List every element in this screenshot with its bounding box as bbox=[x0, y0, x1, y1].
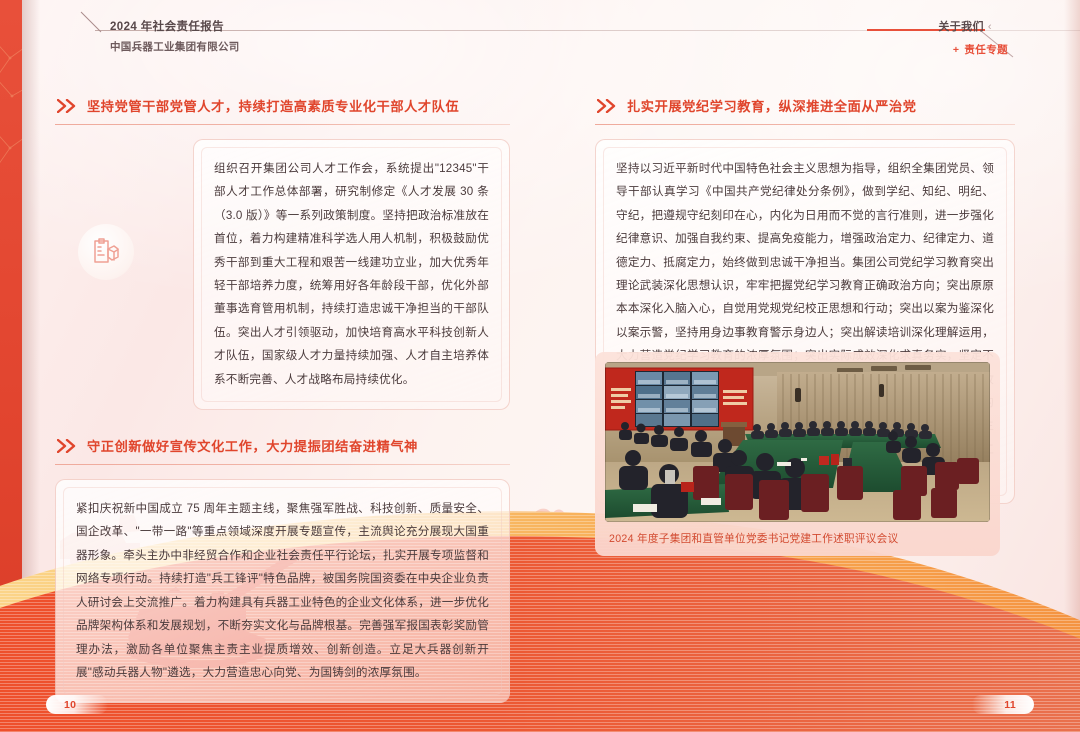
section-body-card: 紧扣庆祝新中国成立 75 周年主题主线，聚焦强军胜战、科技创新、质量安全、国企改… bbox=[55, 479, 510, 703]
nav-about-us-label: 关于我们 bbox=[938, 21, 984, 33]
spine-pattern bbox=[0, 0, 22, 732]
figure-caption: 2024 年度子集团和直管单位党委书记党建工作述职评议会议 bbox=[605, 522, 990, 556]
page-header: 2024 年社会责任报告 中国兵器工业集团有限公司 关于我们‹ +责任专题 bbox=[0, 0, 1080, 62]
report-page: 2024 年社会责任报告 中国兵器工业集团有限公司 关于我们‹ +责任专题 坚持… bbox=[0, 0, 1080, 732]
plus-icon: + bbox=[953, 44, 960, 56]
company-name: 中国兵器工业集团有限公司 bbox=[110, 39, 240, 54]
nav-responsibility-topic[interactable]: +责任专题 bbox=[953, 42, 1008, 57]
double-chevron-icon bbox=[57, 99, 78, 113]
double-chevron-icon bbox=[57, 439, 78, 453]
page-number-left: 10 bbox=[46, 695, 108, 714]
section-header: 坚持党管干部党管人才，持续打造高素质专业化干部人才队伍 bbox=[55, 96, 510, 124]
section-body-text: 紧扣庆祝新中国成立 75 周年主题主线，聚焦强军胜战、科技创新、质量安全、国企改… bbox=[76, 497, 489, 684]
section-divider bbox=[55, 124, 510, 125]
section-title: 坚持党管干部党管人才，持续打造高素质专业化干部人才队伍 bbox=[87, 96, 459, 115]
section-header: 守正创新做好宣传文化工作，大力提振团结奋进精气神 bbox=[55, 436, 510, 464]
section-divider bbox=[55, 464, 510, 465]
section-talent-management: 坚持党管干部党管人才，持续打造高素质专业化干部人才队伍 组织召开集团公司人才工作… bbox=[55, 96, 510, 410]
section-body-card: 组织召开集团公司人才工作会，系统提出"12345"干部人才工作总体部署，研究制修… bbox=[193, 139, 510, 410]
figure-meeting-photo: 2024 年度子集团和直管单位党委书记党建工作述职评议会议 bbox=[595, 352, 1000, 556]
section-title: 扎实开展党纪学习教育，纵深推进全面从严治党 bbox=[627, 96, 917, 115]
chevron-left-icon: ‹ bbox=[988, 21, 992, 33]
left-column: 坚持党管干部党管人才，持续打造高素质专业化干部人才队伍 组织召开集团公司人才工作… bbox=[55, 96, 510, 703]
photo-image bbox=[605, 362, 990, 522]
section-divider bbox=[595, 124, 1015, 125]
right-page-edge bbox=[1064, 0, 1080, 732]
section-header: 扎实开展党纪学习教育，纵深推进全面从严治党 bbox=[595, 96, 1015, 124]
page-number-right: 11 bbox=[972, 695, 1034, 714]
section-title: 守正创新做好宣传文化工作，大力提振团结奋进精气神 bbox=[87, 436, 418, 455]
section-culture-publicity: 守正创新做好宣传文化工作，大力提振团结奋进精气神 紧扣庆祝新中国成立 75 周年… bbox=[55, 436, 510, 703]
gutter-shadow bbox=[22, 0, 40, 732]
header-slash-left-icon bbox=[80, 11, 102, 33]
photo-illustration bbox=[605, 362, 990, 522]
nav-about-us[interactable]: 关于我们‹ bbox=[938, 18, 992, 34]
double-chevron-icon bbox=[597, 99, 618, 113]
clipboard-cube-icon bbox=[78, 224, 134, 280]
report-title: 2024 年社会责任报告 bbox=[110, 18, 224, 34]
section-body-text: 组织召开集团公司人才工作会，系统提出"12345"干部人才工作总体部署，研究制修… bbox=[214, 157, 489, 391]
book-spine bbox=[0, 0, 22, 732]
nav-responsibility-topic-label: 责任专题 bbox=[964, 44, 1008, 56]
